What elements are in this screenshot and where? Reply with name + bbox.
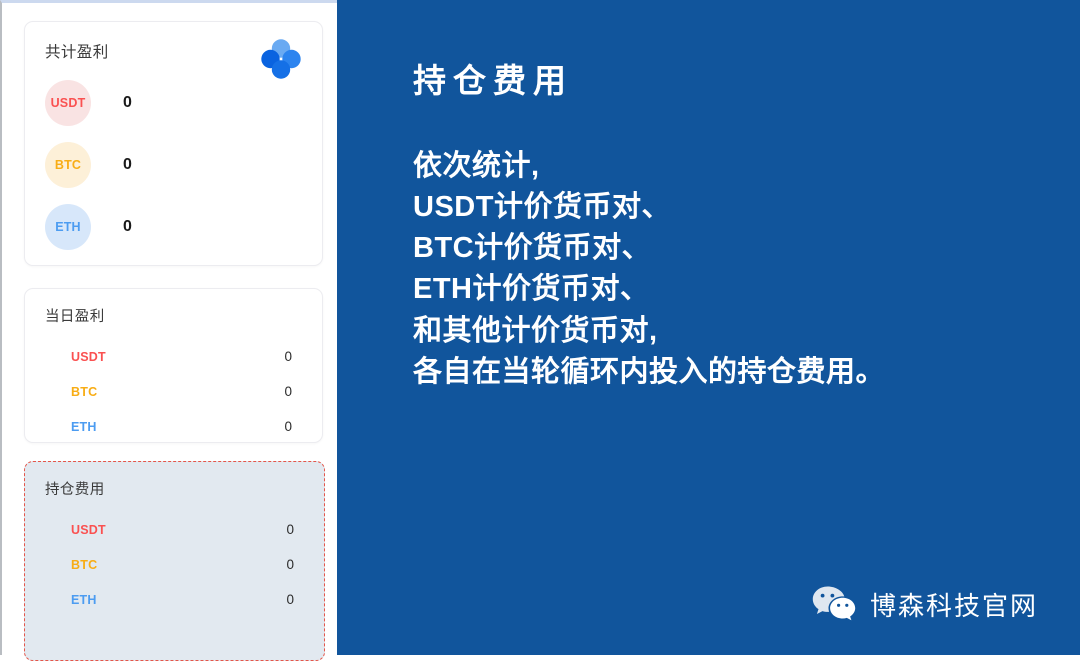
- total-profit-value-btc: 0: [123, 156, 132, 174]
- row-label-btc: BTC: [71, 558, 97, 572]
- total-profit-row: ETH 0: [25, 196, 322, 258]
- daily-profit-row: USDT 0: [71, 339, 292, 374]
- row-label-eth: ETH: [71, 593, 97, 607]
- total-profit-row: BTC 0: [25, 134, 322, 196]
- explainer-body: 依次统计, USDT计价货币对、 BTC计价货币对、 ETH计价货币对、 和其他…: [413, 146, 1080, 393]
- holding-fee-rows: USDT 0 BTC 0 ETH 0: [25, 512, 324, 617]
- daily-profit-row: BTC 0: [71, 374, 292, 409]
- holding-fee-value-btc: 0: [286, 557, 294, 572]
- total-profit-value-eth: 0: [123, 218, 132, 236]
- holding-fee-card: 持仓费用 USDT 0 BTC 0 ETH 0: [24, 461, 325, 661]
- daily-profit-value-btc: 0: [284, 384, 292, 399]
- holding-fee-row: BTC 0: [71, 547, 294, 582]
- row-label-btc: BTC: [71, 385, 97, 399]
- coin-badge-usdt: USDT: [45, 80, 91, 126]
- four-circle-clover-logo-icon: [260, 38, 302, 80]
- daily-profit-value-eth: 0: [284, 419, 292, 434]
- row-label-usdt: USDT: [71, 523, 106, 537]
- explainer-line: ETH计价货币对、: [413, 269, 1080, 310]
- wechat-account-name: 博森科技官网: [870, 586, 1038, 623]
- explainer-line: BTC计价货币对、: [413, 228, 1080, 269]
- wechat-icon: [812, 585, 856, 623]
- holding-fee-value-usdt: 0: [286, 522, 294, 537]
- coin-badge-eth: ETH: [45, 204, 91, 250]
- daily-profit-title: 当日盈利: [45, 305, 322, 326]
- daily-profit-row: ETH 0: [71, 409, 292, 444]
- row-label-eth: ETH: [71, 420, 97, 434]
- wechat-footer: 博森科技官网: [812, 585, 1038, 623]
- explainer-line: 依次统计,: [413, 146, 1080, 187]
- total-profit-row: USDT 0: [25, 72, 322, 134]
- total-profit-rows: USDT 0 BTC 0 ETH 0: [25, 72, 322, 258]
- total-profit-value-usdt: 0: [123, 94, 132, 112]
- explainer-line: 和其他计价货币对,: [413, 311, 1080, 352]
- daily-profit-value-usdt: 0: [284, 349, 292, 364]
- row-label-usdt: USDT: [71, 350, 106, 364]
- explainer-headline: 持仓费用: [413, 62, 1080, 100]
- screen-root: 共计盈利 USDT 0 BTC 0 ET: [0, 0, 1080, 655]
- explainer-panel: 持仓费用 依次统计, USDT计价货币对、 BTC计价货币对、 ETH计价货币对…: [337, 0, 1080, 655]
- explainer-line: USDT计价货币对、: [413, 187, 1080, 228]
- daily-profit-rows: USDT 0 BTC 0 ETH 0: [25, 339, 322, 444]
- holding-fee-title: 持仓费用: [45, 478, 324, 499]
- app-panel: 共计盈利 USDT 0 BTC 0 ET: [0, 0, 337, 655]
- daily-profit-card: 当日盈利 USDT 0 BTC 0 ETH 0: [24, 288, 323, 443]
- coin-badge-btc: BTC: [45, 142, 91, 188]
- holding-fee-row: ETH 0: [71, 582, 294, 617]
- total-profit-card: 共计盈利 USDT 0 BTC 0 ET: [24, 21, 323, 266]
- explainer-line: 各自在当轮循环内投入的持仓费用。: [413, 352, 1080, 393]
- holding-fee-value-eth: 0: [286, 592, 294, 607]
- holding-fee-row: USDT 0: [71, 512, 294, 547]
